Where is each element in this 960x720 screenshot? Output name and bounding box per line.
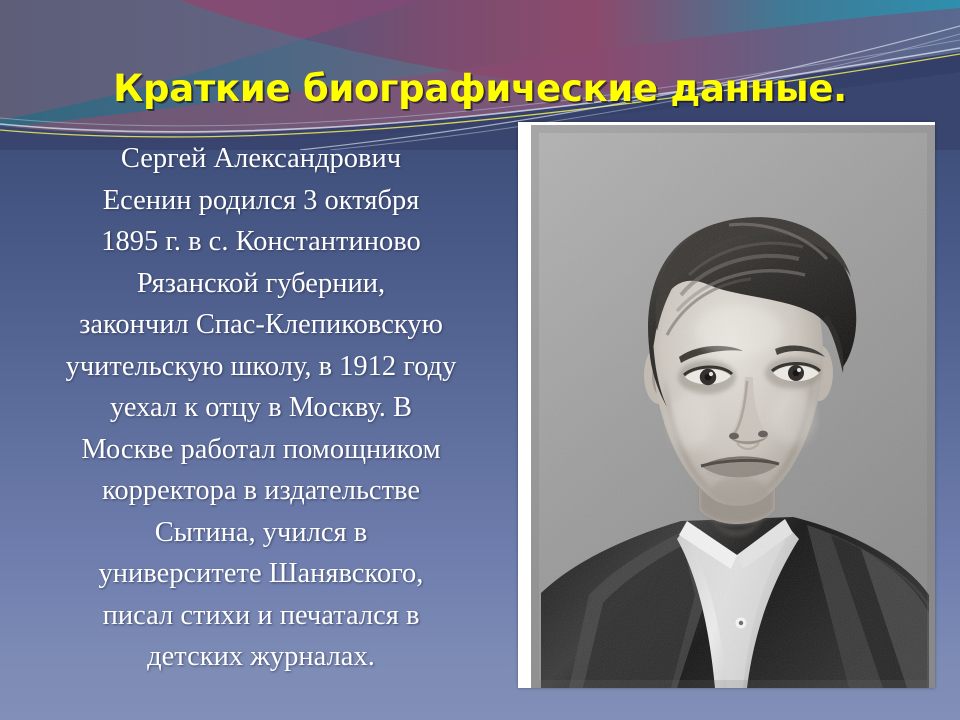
text-line: 1895 г. в с. Константиново	[18, 221, 504, 263]
text-line: университете Шанявского,	[18, 553, 504, 595]
text-line: уехал к отцу в Москву. В	[18, 387, 504, 429]
text-line: Москве работал помощником	[18, 429, 504, 471]
text-line: писал стихи и печатался в	[18, 595, 504, 637]
text-line: корректора в издательстве	[18, 470, 504, 512]
text-line: Сытина, учился в	[18, 512, 504, 554]
biography-text: Сергей Александрович Есенин родился 3 ок…	[18, 138, 504, 678]
portrait-illustration	[531, 125, 935, 688]
text-line: Рязанской губернии,	[18, 263, 504, 305]
text-line: закончил Спас-Клепиковскую	[18, 304, 504, 346]
slide: Краткие биографические данные. Сергей Ал…	[0, 0, 960, 720]
text-line: детских журналах.	[18, 636, 504, 678]
slide-title: Краткие биографические данные.	[0, 66, 960, 112]
text-line: Сергей Александрович	[18, 138, 504, 180]
text-line: учительскую школу, в 1912 году	[18, 346, 504, 388]
portrait-photo-frame	[518, 122, 935, 688]
portrait-photo	[531, 125, 935, 688]
text-line: Есенин родился 3 октября	[18, 180, 504, 222]
